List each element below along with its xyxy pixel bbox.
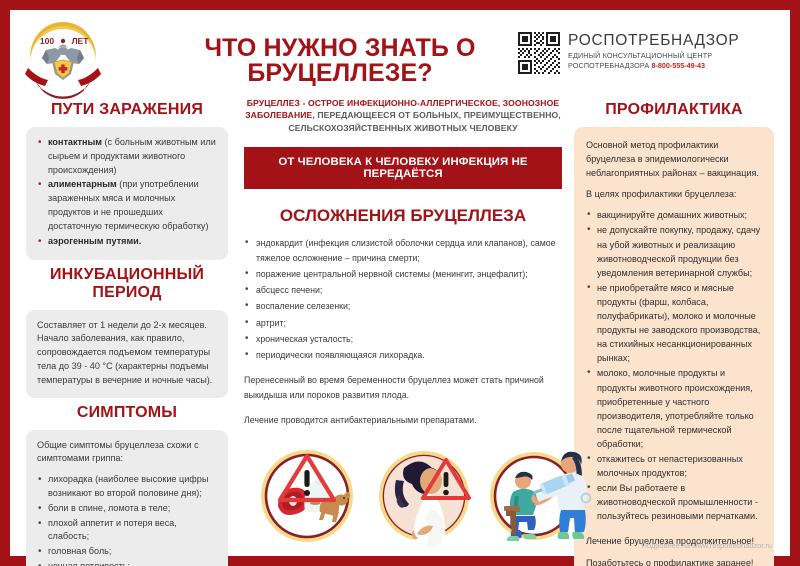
- list-item: поражение центральной нервной системы (м…: [244, 267, 562, 281]
- pregnant-woman-warning-icon: [368, 434, 480, 552]
- section-title-prevention: ПРОФИЛАКТИКА: [574, 101, 774, 119]
- list-item: периодически появляющаяся лихорадка.: [244, 348, 562, 362]
- section-title-incubation: ИНКУБАЦИОННЫЙ ПЕРИОД: [26, 266, 228, 302]
- column-left: ПУТИ ЗАРАЖЕНИЯ контактным (с больным жив…: [10, 95, 238, 566]
- treatment-note: Лечение проводится антибактериальными пр…: [244, 413, 562, 427]
- complications-body: эндокардит (инфекция слизистой оболочки …: [244, 236, 562, 427]
- transmission-list: контактным (с больным животным или сырье…: [37, 136, 217, 249]
- item-keyword: контактным: [48, 137, 102, 147]
- header: 100 ЛЕТ РОСПОТРЕБ: [10, 10, 790, 95]
- symptoms-intro: Общие симптомы бруцеллеза схожи с симпто…: [37, 439, 217, 467]
- disease-definition: БРУЦЕЛЛЕЗ - ОСТРОЕ ИНФЕКЦИОННО-АЛЛЕРГИЧЕ…: [244, 97, 562, 134]
- list-item: абсцесс печени;: [244, 283, 562, 297]
- no-human-transmission-banner: ОТ ЧЕЛОВЕКА К ЧЕЛОВЕКУ ИНФЕКЦИЯ НЕ ПЕРЕД…: [244, 147, 562, 189]
- list-item: эндокардит (инфекция слизистой оболочки …: [244, 236, 562, 265]
- brand-text: РОСПОТРЕБНАДЗОР ЕДИНЫЙ КОНСУЛЬТАЦИОННЫЙ …: [568, 32, 739, 71]
- brand-subtitle: ЕДИНЫЙ КОНСУЛЬТАЦИОННЫЙ ЦЕНТР РОСПОТРЕБН…: [568, 51, 739, 70]
- section-title-complications: ОСЛОЖНЕНИЯ БРУЦЕЛЛЕЗА: [244, 206, 562, 226]
- section-title-symptoms: СИМПТОМЫ: [26, 404, 228, 422]
- meat-milk-dog-warning-icon: [248, 434, 366, 552]
- list-item: артрит;: [244, 316, 562, 330]
- prevention-intro: Основной метод профилактики бруцеллеза в…: [586, 138, 762, 180]
- rospotrebnadzor-emblem-icon: 100 ЛЕТ РОСПОТРЕБ: [22, 18, 104, 102]
- prevention-closing-2: Позаботьтесь о профилактике заранее!: [586, 556, 762, 566]
- svg-text:РОСПОТРЕБНАДЗОР: РОСПОТРЕБНАДЗОР: [39, 86, 87, 91]
- list-item: головная боль;: [37, 545, 217, 559]
- list-item: откажитесь от непастеризованных молочных…: [586, 452, 762, 480]
- panel-incubation: Составляет от 1 недели до 2-х месяцев. Н…: [26, 310, 228, 398]
- prevention-list: вакцинируйте домашних животных; не допус…: [586, 208, 762, 523]
- prevention-list-intro: В целях профилактики бруцеллеза:: [586, 187, 762, 201]
- section-title-transmission: ПУТИ ЗАРАЖЕНИЯ: [26, 101, 228, 119]
- panel-symptoms: Общие симптомы бруцеллеза схожи с симпто…: [26, 430, 228, 566]
- list-item: воспаление селезенки;: [244, 299, 562, 313]
- brand-name: РОСПОТРЕБНАДЗОР: [568, 33, 739, 49]
- item-keyword: алиментарным: [48, 179, 117, 189]
- brand-block: РОСПОТРЕБНАДЗОР ЕДИНЫЙ КОНСУЛЬТАЦИОННЫЙ …: [518, 32, 739, 74]
- illustration-row: [248, 428, 584, 558]
- item-keyword: аэрогенным путями.: [48, 236, 141, 246]
- list-item: алиментарным (при употреблении зараженны…: [37, 178, 217, 233]
- definition-rest: , ПЕРЕДАЮЩЕЕСЯ ОТ БОЛЬНЫХ, ПРЕИМУЩЕСТВЕН…: [288, 110, 560, 132]
- complications-list: эндокардит (инфекция слизистой оболочки …: [244, 236, 562, 362]
- page-title: ЧТО НУЖНО ЗНАТЬ О БРУЦЕЛЛЕЗЕ?: [130, 36, 550, 86]
- poster-root: 100 ЛЕТ РОСПОТРЕБ: [0, 0, 800, 566]
- list-item: если Вы работаете в животноводческой про…: [586, 481, 762, 523]
- poster-inner: 100 ЛЕТ РОСПОТРЕБ: [10, 10, 790, 556]
- panel-prevention: Основной метод профилактики бруцеллеза в…: [574, 127, 774, 566]
- footer-note: Подробнее на www.rospotrebnadzor.ru: [642, 541, 772, 550]
- list-item: лихорадка (наиболее высокие цифры возник…: [37, 473, 217, 501]
- svg-text:ЛЕТ: ЛЕТ: [72, 36, 90, 46]
- qr-code-icon[interactable]: [518, 32, 560, 74]
- brand-sub-line2: РОСПОТРЕБНАДЗОРА: [568, 61, 649, 70]
- brand-sub-line1: ЕДИНЫЙ КОНСУЛЬТАЦИОННЫЙ ЦЕНТР: [568, 51, 712, 60]
- incubation-text: Составляет от 1 недели до 2-х месяцев. Н…: [37, 319, 217, 388]
- svg-text:100: 100: [40, 36, 54, 46]
- hotline-phone[interactable]: 8-800-555-49-43: [651, 61, 705, 70]
- list-item: не допускайте покупку, продажу, сдачу на…: [586, 223, 762, 279]
- panel-transmission: контактным (с больным животным или сырье…: [26, 127, 228, 260]
- list-item: боли в спине, ломота в теле;: [37, 502, 217, 516]
- list-item: вакцинируйте домашних животных;: [586, 208, 762, 222]
- vaccination-doctor-patient-icon: [482, 434, 594, 552]
- list-item: плохой аппетит и потеря веса, слабость;: [37, 517, 217, 545]
- column-right: ПРОФИЛАКТИКА Основной метод профилактики…: [568, 95, 790, 566]
- pregnancy-note: Перенесенный во время беременности бруце…: [244, 373, 562, 402]
- list-item: аэрогенным путями.: [37, 235, 217, 249]
- list-item: ночная потливость;: [37, 560, 217, 566]
- list-item: не приобретайте мясо и мясные продукты (…: [586, 281, 762, 366]
- symptoms-list: лихорадка (наиболее высокие цифры возник…: [37, 473, 217, 566]
- list-item: молоко, молочные продукты и продукты жив…: [586, 366, 762, 451]
- list-item: хроническая усталость;: [244, 332, 562, 346]
- list-item: контактным (с больным животным или сырье…: [37, 136, 217, 177]
